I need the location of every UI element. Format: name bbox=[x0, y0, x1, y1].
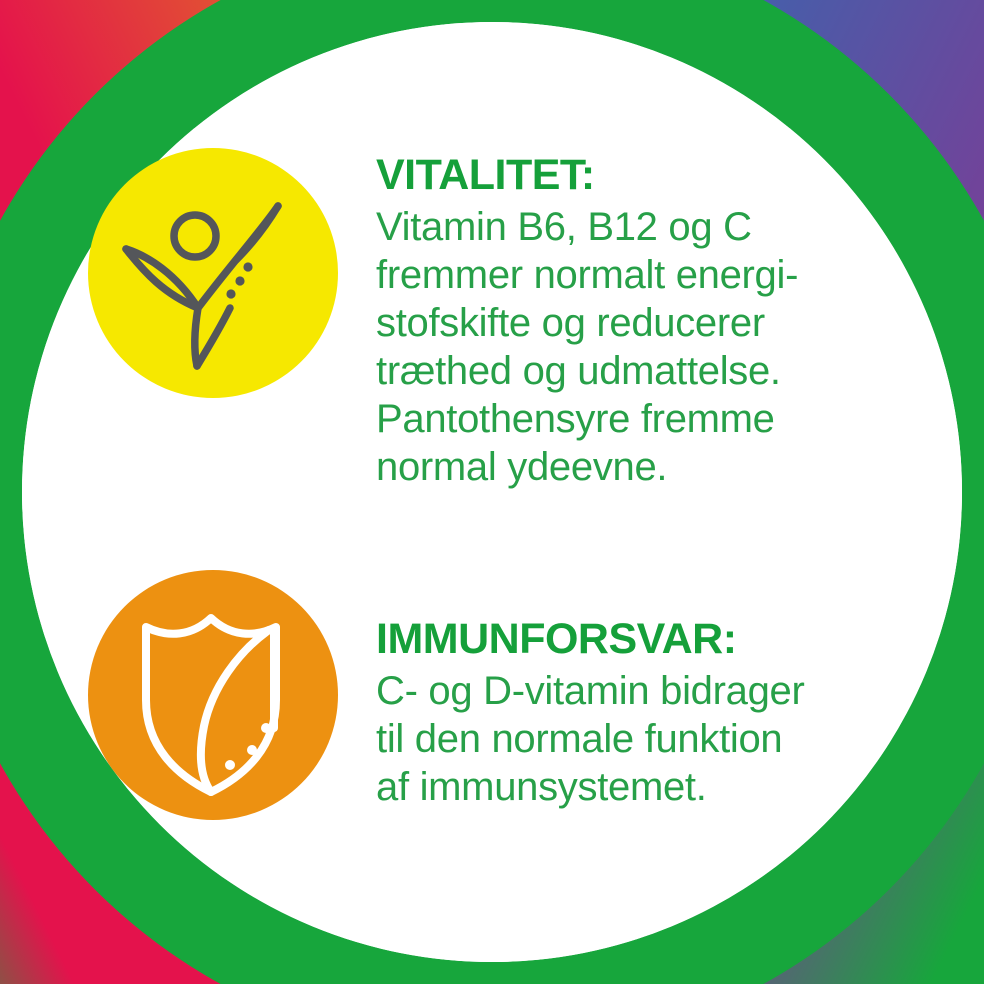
immunforsvar-heading: IMMUNFORSVAR: bbox=[376, 618, 805, 662]
body-line: normal ydeevne. bbox=[376, 443, 798, 491]
body-line: af immunsystemet. bbox=[376, 763, 805, 811]
shield-leaf-icon bbox=[88, 570, 338, 820]
immunforsvar-text: IMMUNFORSVAR: C- og D-vitamin bidrager t… bbox=[376, 570, 805, 811]
body-line: fremmer normalt energi- bbox=[376, 251, 798, 299]
body-line: Pantothensyre fremme bbox=[376, 395, 798, 443]
body-line: træthed og udmattelse. bbox=[376, 347, 798, 395]
vitality-figure-icon bbox=[88, 148, 338, 398]
body-line: Vitamin B6, B12 og C bbox=[376, 203, 798, 251]
vitalitet-text: VITALITET: Vitamin B6, B12 og C fremmer … bbox=[376, 148, 798, 491]
vitality-badge bbox=[88, 148, 338, 398]
body-line: stofskifte og reducerer bbox=[376, 299, 798, 347]
immunforsvar-body: C- og D-vitamin bidrager til den normale… bbox=[376, 667, 805, 811]
promo-card: VITALITET: Vitamin B6, B12 og C fremmer … bbox=[0, 0, 984, 984]
body-line: til den normale funktion bbox=[376, 715, 805, 763]
section-immunforsvar: IMMUNFORSVAR: C- og D-vitamin bidrager t… bbox=[88, 570, 805, 820]
section-vitalitet: VITALITET: Vitamin B6, B12 og C fremmer … bbox=[88, 148, 798, 491]
vitalitet-heading: VITALITET: bbox=[376, 154, 798, 198]
vitalitet-body: Vitamin B6, B12 og C fremmer normalt ene… bbox=[376, 203, 798, 491]
body-line: C- og D-vitamin bidrager bbox=[376, 667, 805, 715]
immunity-badge bbox=[88, 570, 338, 820]
